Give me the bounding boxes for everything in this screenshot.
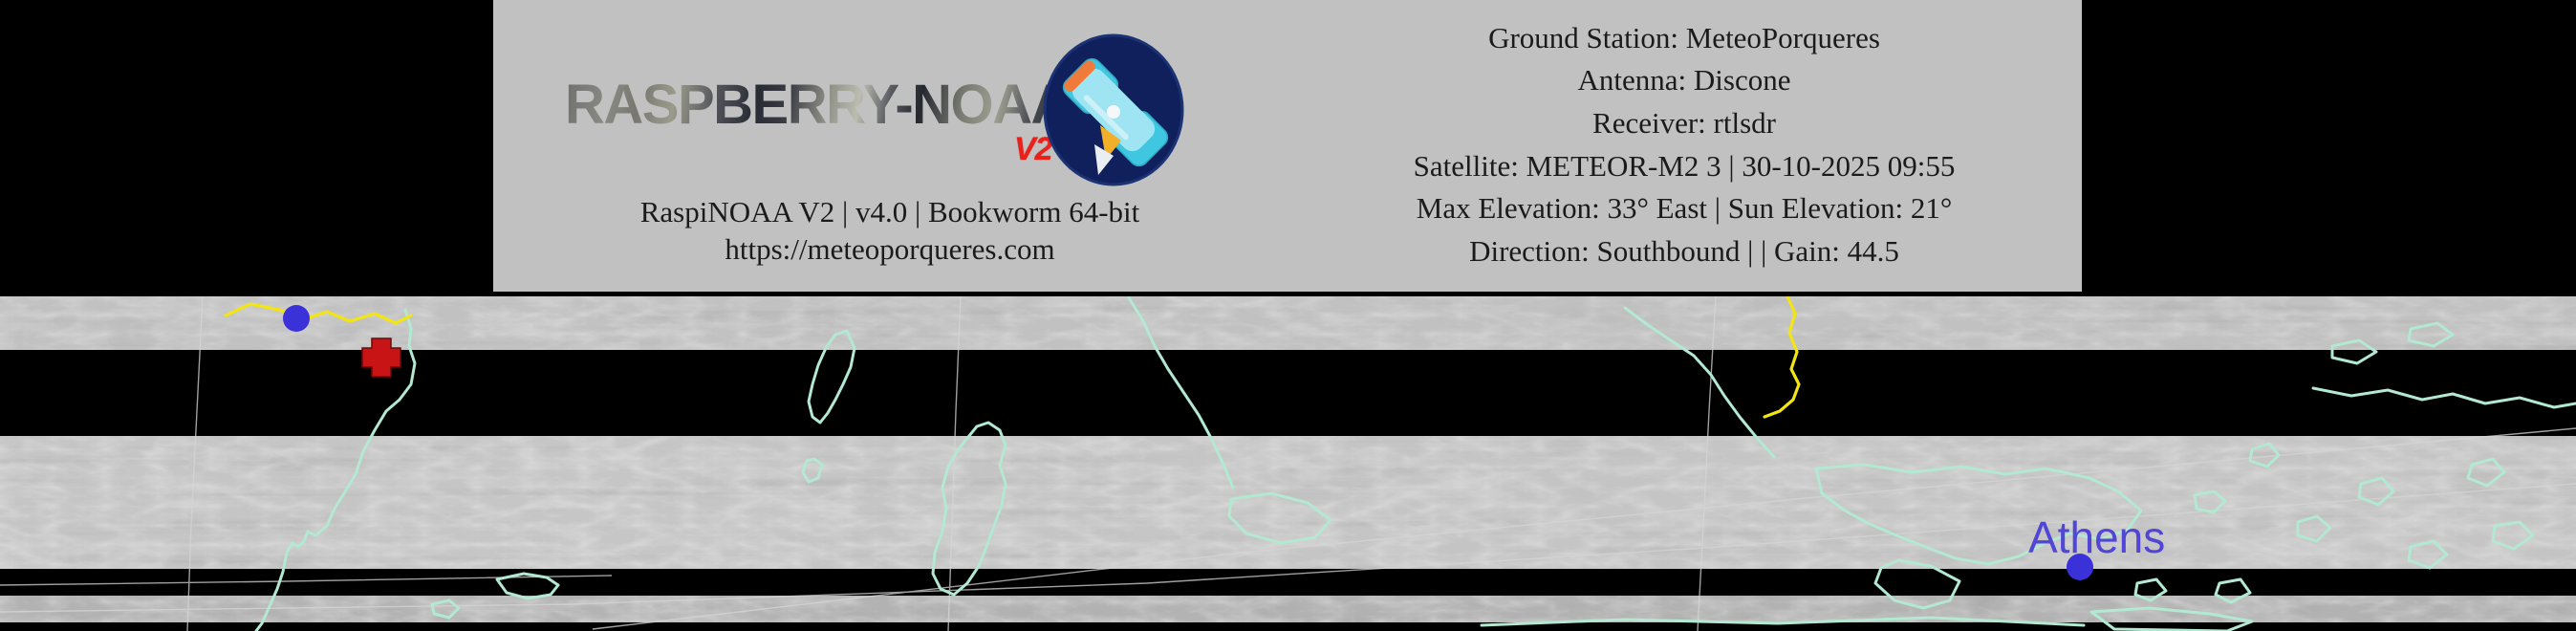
city-marker-barcelona bbox=[283, 305, 310, 332]
satellite-pass-image: Athens bbox=[0, 296, 2576, 631]
meta-line-satellite-datetime: Satellite: METEOR-M2 3 | 30-10-2025 09:5… bbox=[1414, 145, 1956, 188]
satellite-icon bbox=[1041, 33, 1186, 186]
imagery-band-bottom bbox=[0, 596, 2576, 622]
place-labels: Athens bbox=[2028, 512, 2165, 562]
meta-line-direction-gain: Direction: Southbound | | Gain: 44.5 bbox=[1469, 230, 1899, 273]
header-panel: RASPBERRY-NOAA RASPBERRY-NOAA V2 bbox=[493, 0, 2082, 292]
meta-line-antenna: Antenna: Discone bbox=[1578, 59, 1791, 102]
pass-metadata-block: Ground Station: MeteoPorqueres Antenna: … bbox=[1287, 0, 2082, 292]
missing-data-band bbox=[0, 569, 2576, 596]
brand-version-line: RaspiNOAA V2 | v4.0 | Bookworm 64-bit bbox=[640, 194, 1140, 230]
brand-info-lines: RaspiNOAA V2 | v4.0 | Bookworm 64-bit ht… bbox=[640, 194, 1140, 268]
meta-line-receiver: Receiver: rtlsdr bbox=[1592, 102, 1776, 145]
logo-row: RASPBERRY-NOAA RASPBERRY-NOAA V2 bbox=[565, 30, 1215, 192]
meta-line-elevations: Max Elevation: 33° East | Sun Elevation:… bbox=[1417, 187, 1953, 230]
city-marker-athens bbox=[2067, 554, 2093, 580]
meta-line-ground-station: Ground Station: MeteoPorqueres bbox=[1488, 17, 1880, 60]
raspberry-noaa-wordmark: RASPBERRY-NOAA bbox=[565, 77, 1070, 133]
branding-block: RASPBERRY-NOAA RASPBERRY-NOAA V2 bbox=[493, 0, 1287, 292]
screenshot-root: RASPBERRY-NOAA RASPBERRY-NOAA V2 bbox=[0, 0, 2576, 631]
label-athens: Athens bbox=[2028, 512, 2165, 562]
brand-url-line[interactable]: https://meteoporqueres.com bbox=[640, 231, 1140, 268]
imagery-band-middle bbox=[0, 436, 2576, 569]
